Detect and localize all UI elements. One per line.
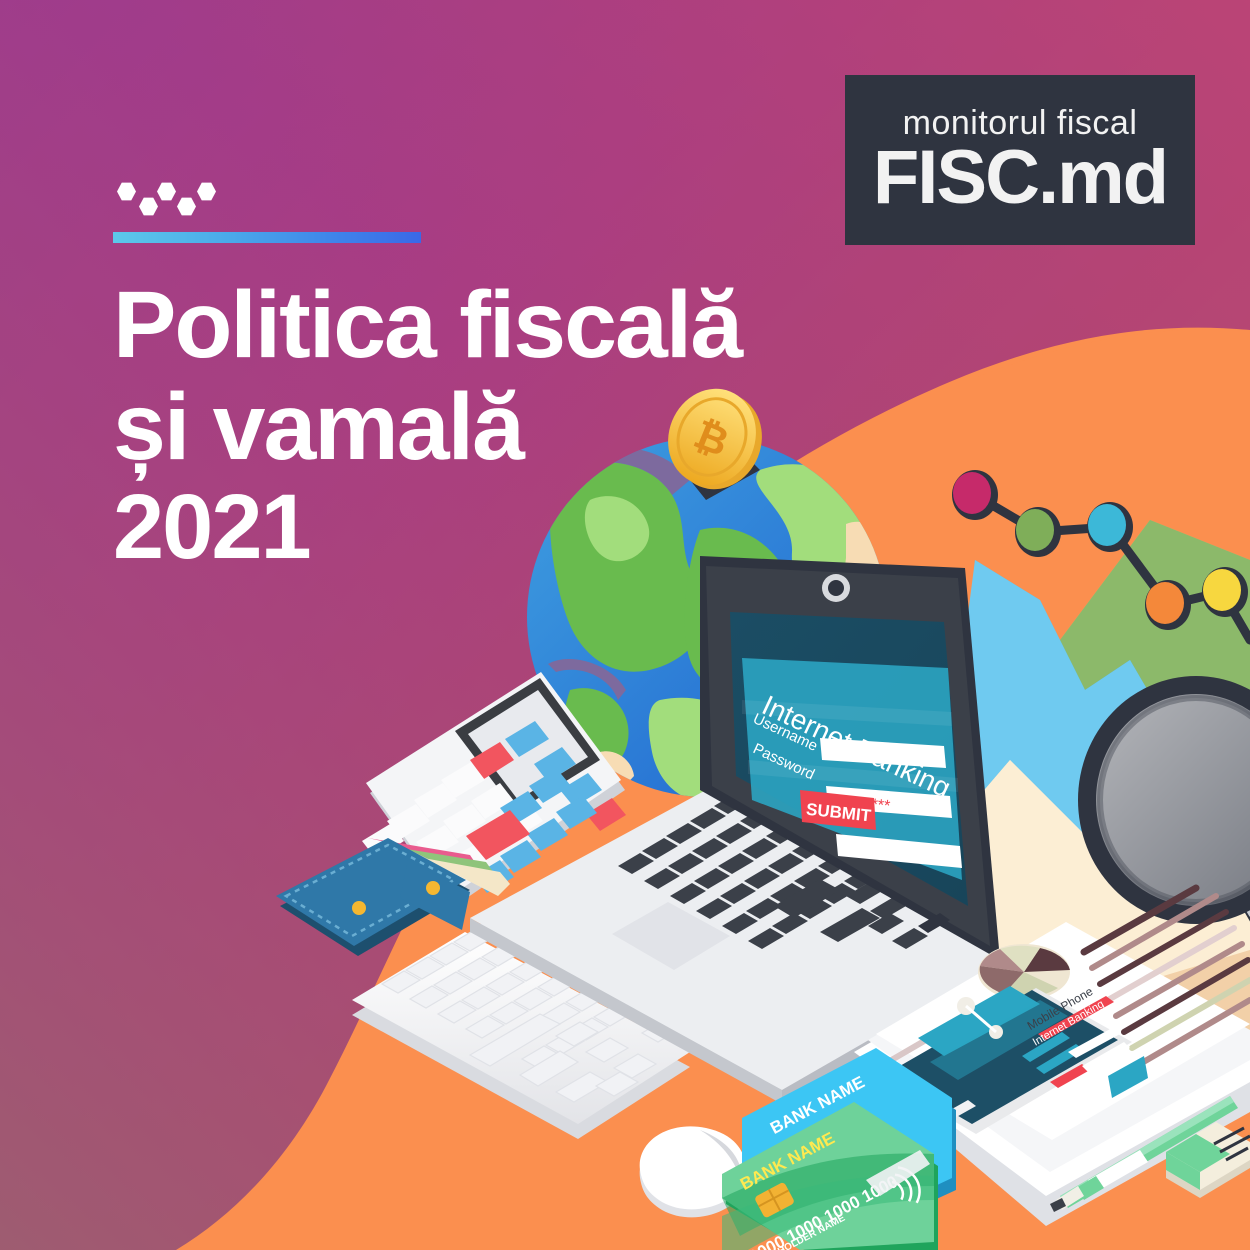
title-line-1: Politica fiscală [113,275,833,377]
wallet-button-1 [352,901,366,915]
marker-5 [1203,569,1241,611]
wallet-button-2 [426,881,440,895]
title-line-3: 2021 [113,478,833,576]
marker-3 [1088,504,1126,546]
hex-dot-1 [117,182,136,201]
headline-block: Politica fiscală și vamală 2021 [113,180,833,577]
logo-wordmark: FISC.md [873,142,1167,214]
hex-dot-4 [177,197,196,216]
monitorul-fisc-md-logo[interactable]: monitorul fiscal FISC.md [845,75,1195,245]
marker-1 [953,472,991,514]
marker-2 [1016,509,1054,551]
hex-dot-2 [139,197,158,216]
page-title: Politica fiscală și vamală 2021 [113,275,833,577]
hex-dot-5 [197,182,216,201]
pie-chart [978,944,1070,1000]
title-line-2: și vamală [113,377,833,479]
poster-canvas: ₿ [0,0,1250,1250]
hex-dot-3 [157,182,176,201]
gradient-rule [113,232,421,243]
marker-4 [1146,582,1184,624]
decorative-hex-dots [113,180,213,224]
